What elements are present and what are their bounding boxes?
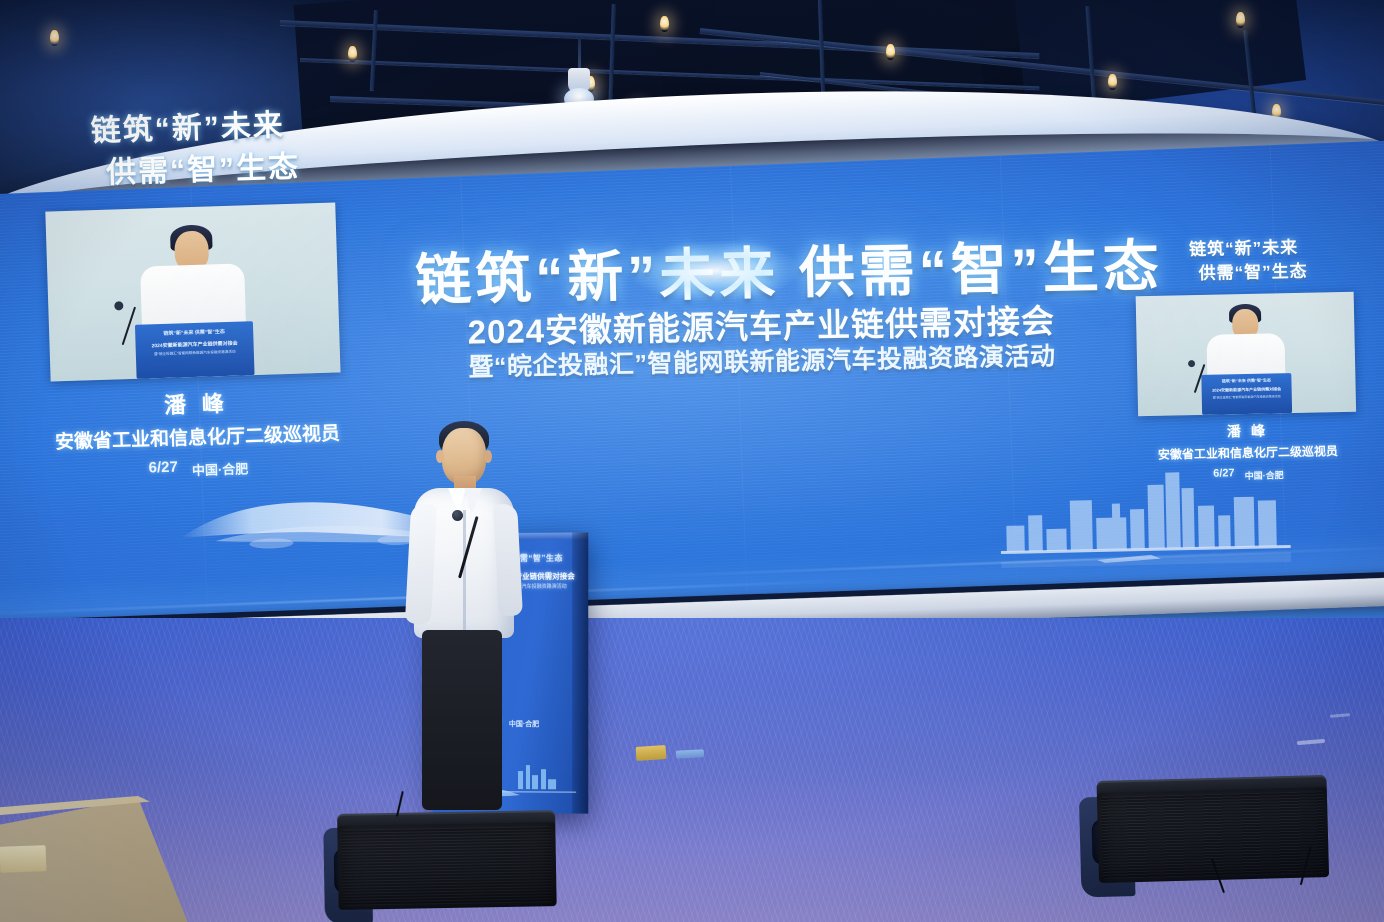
speaker-ear-right [484,450,492,463]
conference-stage-scene: 链筑“新”未来 供需“智”生态 2024安徽新能源汽车产业链供需对接会 暨“皖企… [0,0,1384,922]
left-panel-speaker-name: 潘 峰 [37,382,356,424]
lamp-rod [578,38,581,72]
mini-podium: 链筑“新”未来 供需“智”生态 2024安徽新能源汽车产业链供需对接会 暨“皖企… [1201,373,1292,415]
speaker-shirt-placket [463,510,466,630]
right-panel-date: 6/27 [1213,467,1235,482]
microphone-icon [452,510,463,521]
right-screen-panel: 链筑“新”未来 供需“智”生态 链筑“新”未来 供需“智”生态 2024安徽新能… [1125,236,1366,484]
mini-microphone [122,306,136,345]
right-panel-slogan-line1: 链筑“新”未来 [1125,236,1361,263]
right-panel-speaker-title: 安徽省工业和信息化厅二级巡视员 [1130,441,1366,463]
spotlight-icon [660,16,669,32]
speaker-person [408,418,518,818]
mini-podium-slogan: 链筑“新”未来 供需“智”生态 [1201,377,1291,385]
mini-podium-line1: 2024安徽新能源汽车产业链供需对接会 [135,339,253,350]
banner-center-text: 链筑“新”未来 供需“智”生态 2024安徽新能源汽车产业链供需对接会 暨“皖企… [415,239,1107,381]
left-screen-panel: 链筑“新”未来 供需“智”生态 链筑“新”未来 供需“智”生态 2024安徽新能… [28,105,357,484]
mini-podium-line2: 暨“皖企投融汇”智能网联新能源汽车投融资路演活动 [1202,394,1292,400]
spotlight-icon [886,44,895,60]
monitor-grille-face [337,822,556,909]
spotlight-icon [1236,12,1245,28]
right-panel-slogan-line2: 供需“智”生态 [1144,259,1362,285]
mini-podium-line2: 暨“皖企投融汇”智能网联新能源汽车投融资路演活动 [136,349,254,358]
speaker-ear-left [436,450,444,463]
mini-podium-slogan: 链筑“新”未来 供需“智”生态 [135,327,253,338]
left-panel-speaker-photo: 链筑“新”未来 供需“智”生态 2024安徽新能源汽车产业链供需对接会 暨“皖企… [45,202,340,381]
mini-microphone-head [1188,360,1195,367]
right-panel-location: 中国·合肥 [1244,466,1283,482]
left-panel-speaker-title: 安徽省工业和信息化厅二级巡视员 [38,418,357,455]
left-panel-slogan-line2: 供需“智”生态 [58,147,349,194]
stage-monitor-left [337,810,557,922]
mini-speaker-figure: 链筑“新”未来 供需“智”生态 2024安徽新能源汽车产业链供需对接会 暨“皖企… [1136,291,1356,416]
mini-podium-line1: 2024安徽新能源汽车产业链供需对接会 [1202,386,1292,394]
spotlight-icon [348,46,357,62]
spotlight-icon [50,30,59,46]
mini-microphone-head [114,301,123,310]
mini-speaker-figure: 链筑“新”未来 供需“智”生态 2024安徽新能源汽车产业链供需对接会 暨“皖企… [45,202,340,381]
stage-monitor-right [1096,775,1329,899]
floor-marker-blue [676,749,704,758]
right-panel-speaker-name: 潘 峰 [1129,418,1365,443]
speaker-trousers [422,630,502,810]
banner-headline: 链筑“新”未来 供需“智”生态 [415,239,1106,308]
floor-marker-yellow [636,745,667,761]
left-panel-date: 6/27 [148,458,178,480]
floor-object-pale [0,845,46,873]
monitor-grille-texture [341,826,552,905]
left-panel-location: 中国·合肥 [192,456,249,479]
monitor-grille-face [1097,787,1329,883]
mini-podium: 链筑“新”未来 供需“智”生态 2024安徽新能源汽车产业链供需对接会 暨“皖企… [135,321,255,379]
right-panel-speaker-photo: 链筑“新”未来 供需“智”生态 2024安徽新能源汽车产业链供需对接会 暨“皖企… [1136,291,1356,416]
